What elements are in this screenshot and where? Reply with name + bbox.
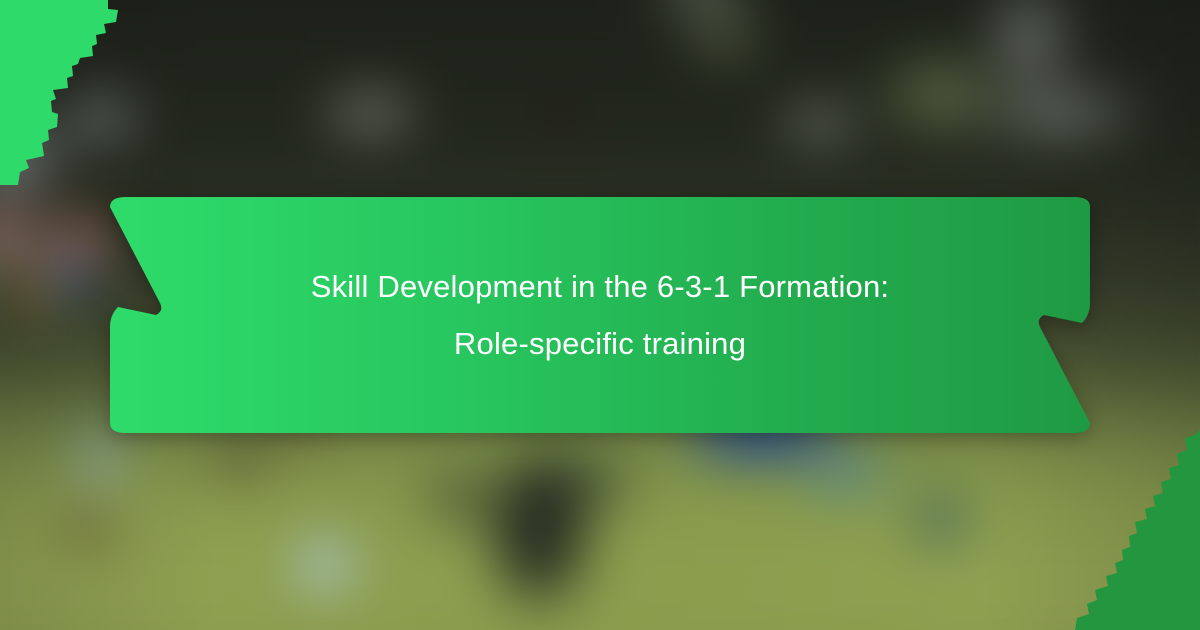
banner-canvas: Skill Development in the 6-3-1 Formation…	[0, 0, 1200, 630]
title-ribbon	[110, 197, 1090, 433]
ribbon-shape	[110, 197, 1090, 433]
